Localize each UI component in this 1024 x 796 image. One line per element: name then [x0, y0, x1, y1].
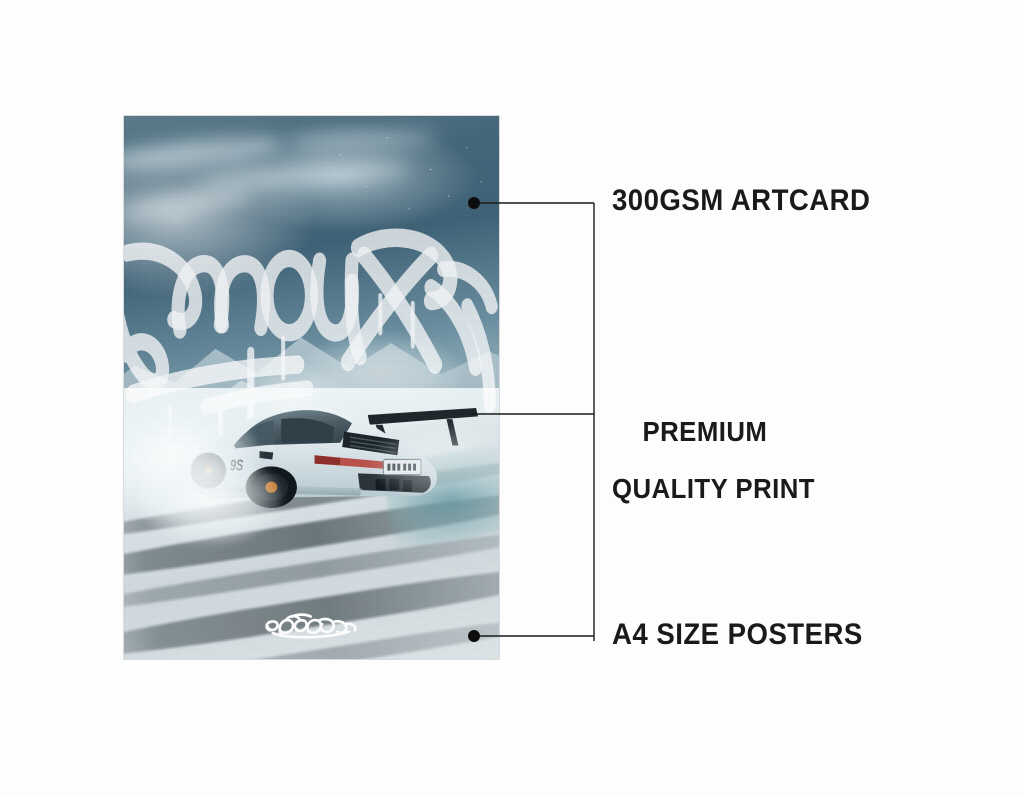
product-poster-image[interactable]: 9S: [124, 116, 499, 659]
poster-feature-callout-canvas: 9S: [0, 0, 1024, 796]
callout-label-premium: PREMIUM QUALITY PRINT: [612, 389, 815, 560]
callout-label-a4: A4 SIZE POSTERS: [612, 620, 863, 651]
callout-label-premium-line2: QUALITY PRINT: [612, 475, 815, 504]
callout-label-artcard: 300GSM ARTCARD: [612, 186, 870, 217]
callout-label-premium-line1: PREMIUM: [642, 416, 767, 447]
cloud-streak: [124, 186, 252, 223]
poster-graffiti-wordmark: [261, 602, 362, 651]
snow-sparkle-specks: [319, 128, 499, 250]
snow-spray: [139, 453, 282, 545]
